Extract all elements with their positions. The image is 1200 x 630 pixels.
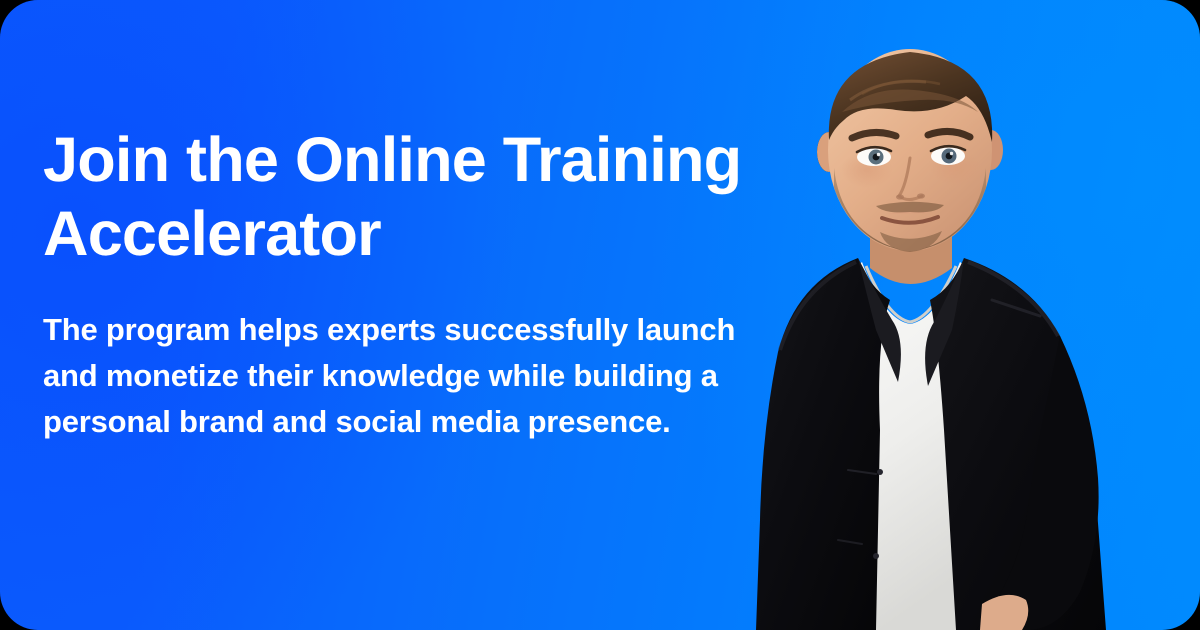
- promo-banner: Join the Online Training Accelerator The…: [0, 0, 1200, 630]
- banner-content: Join the Online Training Accelerator The…: [43, 124, 803, 444]
- page-title: Join the Online Training Accelerator: [43, 124, 803, 271]
- banner-description: The program helps experts successfully l…: [43, 307, 743, 444]
